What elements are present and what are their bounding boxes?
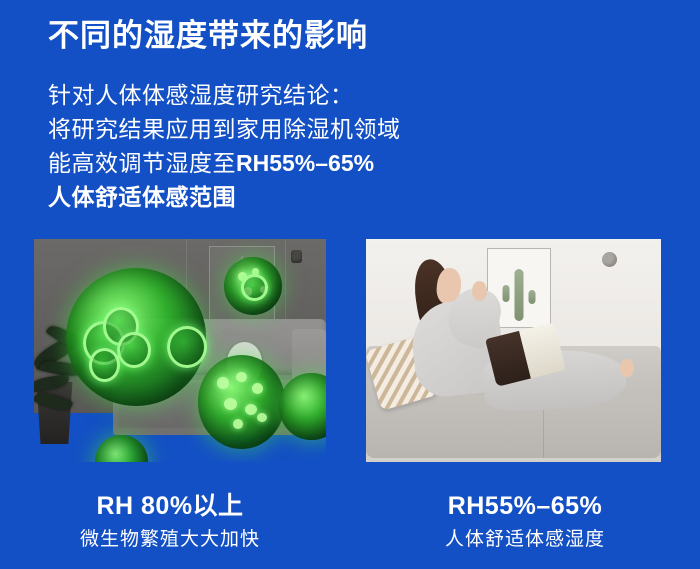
person-reading [366, 239, 661, 462]
wall-knob-icon [291, 250, 302, 263]
caption-row: RH 80%以上 微生物繁殖大大加快 RH55%–65% 人体舒适体感湿度 [0, 490, 700, 569]
germ-ring [117, 332, 151, 368]
body-line-1: 针对人体体感湿度研究结论： [48, 78, 468, 112]
caption-subtitle: 微生物繁殖大大加快 [5, 527, 335, 553]
room-scene-dark [34, 239, 326, 462]
germ-dot [217, 377, 229, 388]
body-copy: 针对人体体感湿度研究结论： 将研究结果应用到家用除湿机领域 能高效调节湿度至RH… [48, 78, 468, 214]
caption-title: RH 80%以上 [5, 490, 335, 522]
germ-dot [233, 419, 244, 429]
person-foot [620, 359, 635, 377]
germ-dot [224, 398, 237, 410]
microbe-blob-large [66, 268, 206, 406]
germ-ring [167, 326, 207, 368]
microbe-blob-small [224, 257, 282, 315]
page-title: 不同的湿度带来的影响 [48, 16, 368, 56]
caption-high-humidity: RH 80%以上 微生物繁殖大大加快 [5, 490, 335, 553]
germ-dot [257, 413, 267, 422]
microbe-blob-medium [198, 355, 286, 449]
germ-dot [245, 404, 257, 415]
microbe-blob-floor [95, 435, 148, 462]
body-line-3-highlight: RH55%–65% [236, 150, 374, 176]
caption-comfort-humidity: RH55%–65% 人体舒适体感湿度 [360, 490, 690, 553]
caption-title: RH55%–65% [360, 490, 690, 522]
germ-ring [241, 274, 268, 301]
humidity-infographic: 不同的湿度带来的影响 针对人体体感湿度研究结论： 将研究结果应用到家用除湿机领域… [0, 0, 700, 569]
germ-dot [252, 383, 263, 394]
germ-dot [236, 372, 247, 382]
photo-row [0, 239, 700, 462]
body-line-3: 能高效调节湿度至RH55%–65% [48, 146, 468, 180]
body-line-2: 将研究结果应用到家用除湿机领域 [48, 112, 468, 146]
photo-high-humidity [34, 239, 326, 462]
germ-ring [89, 348, 120, 382]
body-line-4: 人体舒适体感范围 [48, 180, 468, 214]
body-line-3-prefix: 能高效调节湿度至 [48, 150, 236, 176]
photo-comfort-humidity [366, 239, 661, 462]
caption-subtitle: 人体舒适体感湿度 [360, 527, 690, 553]
room-scene-bright [366, 239, 661, 462]
